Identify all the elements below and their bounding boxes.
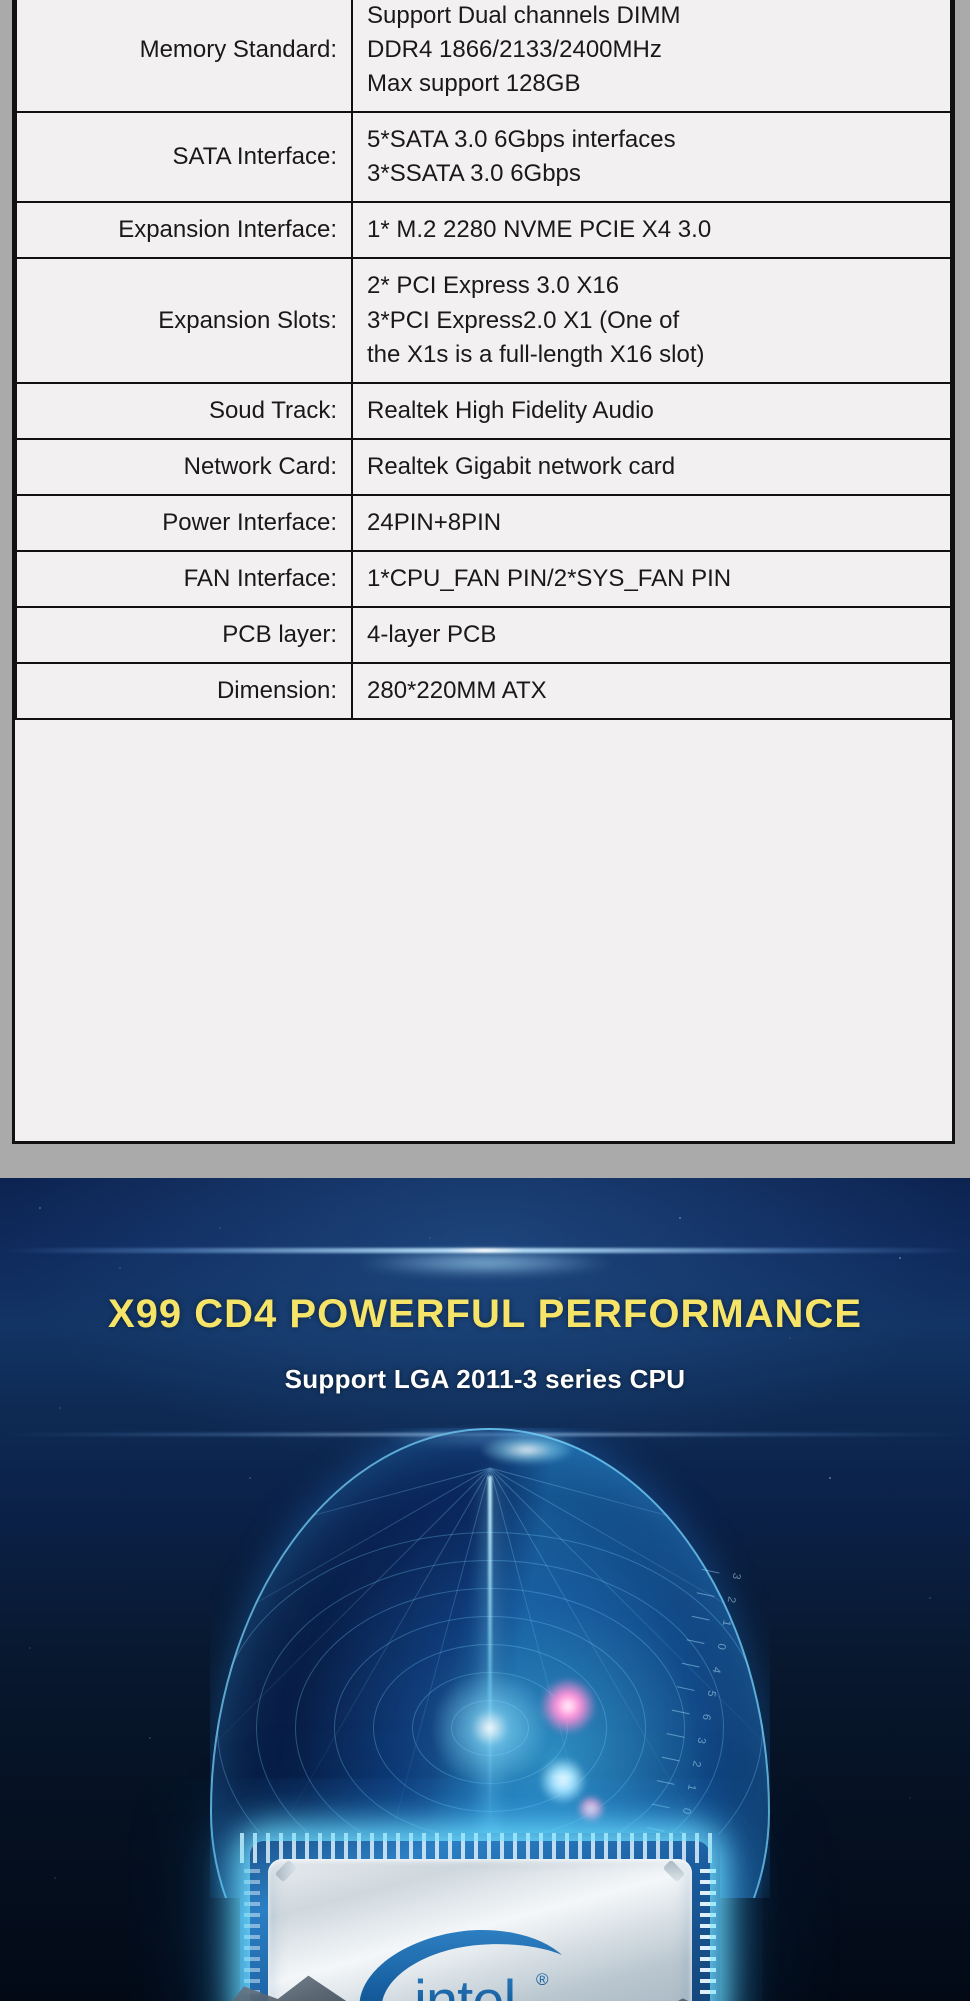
spec-label-text: Memory Standard: xyxy=(140,36,337,63)
lens-flare-glow-icon xyxy=(355,1250,615,1276)
spec-value-line: 1* M.2 2280 NVME PCIE X4 3.0 xyxy=(367,213,936,247)
svg-text:intel: intel xyxy=(414,1969,515,2001)
radar-blip-icon xyxy=(540,1758,586,1804)
radar-center-flare-icon xyxy=(430,1668,550,1788)
spec-value-line: 5*SATA 3.0 6Gbps interfaces xyxy=(367,123,936,157)
specification-table-body: Memory Standard: Support Dual channels D… xyxy=(16,0,951,719)
spec-value-cell: 24PIN+8PIN xyxy=(352,495,951,551)
spec-value-line: Realtek Gigabit network card xyxy=(367,450,936,484)
spec-label-text: Dimension: xyxy=(217,677,337,704)
spec-value-cell: 5*SATA 3.0 6Gbps interfaces 3*SSATA 3.0 … xyxy=(352,112,951,202)
spec-value-line: DDR4 1866/2133/2400MHz xyxy=(367,33,936,67)
spec-label-text: PCB layer: xyxy=(222,621,337,648)
cpu-chip-graphic: intel ® xyxy=(240,1833,720,2001)
spec-label-cell: FAN Interface: xyxy=(16,551,352,607)
spec-label-cell: Expansion Interface: xyxy=(16,202,352,258)
spec-value-line: 280*220MM ATX xyxy=(367,674,936,708)
spec-label-cell: Power Interface: xyxy=(16,495,352,551)
table-row: Network Card: Realtek Gigabit network ca… xyxy=(16,439,951,495)
specification-section: Memory Standard: Support Dual channels D… xyxy=(0,0,970,1178)
spec-value-cell: 1* M.2 2280 NVME PCIE X4 3.0 xyxy=(352,202,951,258)
spec-label-cell: SATA Interface: xyxy=(16,112,352,202)
spec-value-cell: 2* PCI Express 3.0 X16 3*PCI Express2.0 … xyxy=(352,258,951,382)
banner-subtitle: Support LGA 2011-3 series CPU xyxy=(0,1364,970,1395)
table-row: Memory Standard: Support Dual channels D… xyxy=(16,0,951,112)
spec-value-cell: Support Dual channels DIMM DDR4 1866/213… xyxy=(352,0,951,112)
table-row: Expansion Slots: 2* PCI Express 3.0 X16 … xyxy=(16,258,951,382)
spec-value-cell: Realtek High Fidelity Audio xyxy=(352,383,951,439)
spec-value-line: Realtek High Fidelity Audio xyxy=(367,394,936,428)
spec-value-line: Max support 128GB xyxy=(367,67,936,101)
spec-label-text: Expansion Slots: xyxy=(158,307,337,334)
table-row: Power Interface: 24PIN+8PIN xyxy=(16,495,951,551)
table-row: Soud Track: Realtek High Fidelity Audio xyxy=(16,383,951,439)
spec-label-text: Soud Track: xyxy=(209,397,337,424)
spec-value-line: 3*SSATA 3.0 6Gbps xyxy=(367,157,936,191)
spec-value-line: 24PIN+8PIN xyxy=(367,506,936,540)
promo-banner: X99 CD4 POWERFUL PERFORMANCE Support LGA… xyxy=(0,1178,970,2001)
spec-label-cell: Memory Standard: xyxy=(16,0,352,112)
table-row: PCB layer: 4-layer PCB xyxy=(16,607,951,663)
spec-value-line: 1*CPU_FAN PIN/2*SYS_FAN PIN xyxy=(367,562,936,596)
spec-label-cell: Soud Track: xyxy=(16,383,352,439)
spec-value-line: the X1s is a full-length X16 slot) xyxy=(367,338,936,372)
radar-dome-graphic: 3210456321045 xyxy=(210,1428,770,1898)
spec-value-line: 4-layer PCB xyxy=(367,618,936,652)
spec-value-line: 3*PCI Express2.0 X1 (One of xyxy=(367,304,936,338)
table-row: FAN Interface: 1*CPU_FAN PIN/2*SYS_FAN P… xyxy=(16,551,951,607)
spec-value-line: 2* PCI Express 3.0 X16 xyxy=(367,269,936,303)
spec-value-cell: 280*220MM ATX xyxy=(352,663,951,719)
table-row: Expansion Interface: 1* M.2 2280 NVME PC… xyxy=(16,202,951,258)
spec-label-text: Network Card: xyxy=(184,453,337,480)
spec-value-cell: 4-layer PCB xyxy=(352,607,951,663)
table-row: Dimension: 280*220MM ATX xyxy=(16,663,951,719)
radar-blip-icon xyxy=(540,1678,596,1734)
spec-label-cell: Dimension: xyxy=(16,663,352,719)
spec-label-cell: Expansion Slots: xyxy=(16,258,352,382)
spec-value-line: Support Dual channels DIMM xyxy=(367,0,936,33)
specification-table: Memory Standard: Support Dual channels D… xyxy=(15,0,952,720)
spec-value-cell: Realtek Gigabit network card xyxy=(352,439,951,495)
banner-title: X99 CD4 POWERFUL PERFORMANCE xyxy=(0,1292,970,1337)
intel-logo-icon: intel ® xyxy=(330,1921,630,2001)
spec-label-text: FAN Interface: xyxy=(184,565,337,592)
table-row: SATA Interface: 5*SATA 3.0 6Gbps interfa… xyxy=(16,112,951,202)
spec-label-cell: Network Card: xyxy=(16,439,352,495)
spec-label-cell: PCB layer: xyxy=(16,607,352,663)
spec-label-text: SATA Interface: xyxy=(172,143,337,170)
spec-label-text: Power Interface: xyxy=(162,509,337,536)
specification-table-container: Memory Standard: Support Dual channels D… xyxy=(12,0,955,1144)
spec-label-text: Expansion Interface: xyxy=(118,216,337,243)
svg-text:®: ® xyxy=(536,1970,549,1989)
spec-value-cell: 1*CPU_FAN PIN/2*SYS_FAN PIN xyxy=(352,551,951,607)
